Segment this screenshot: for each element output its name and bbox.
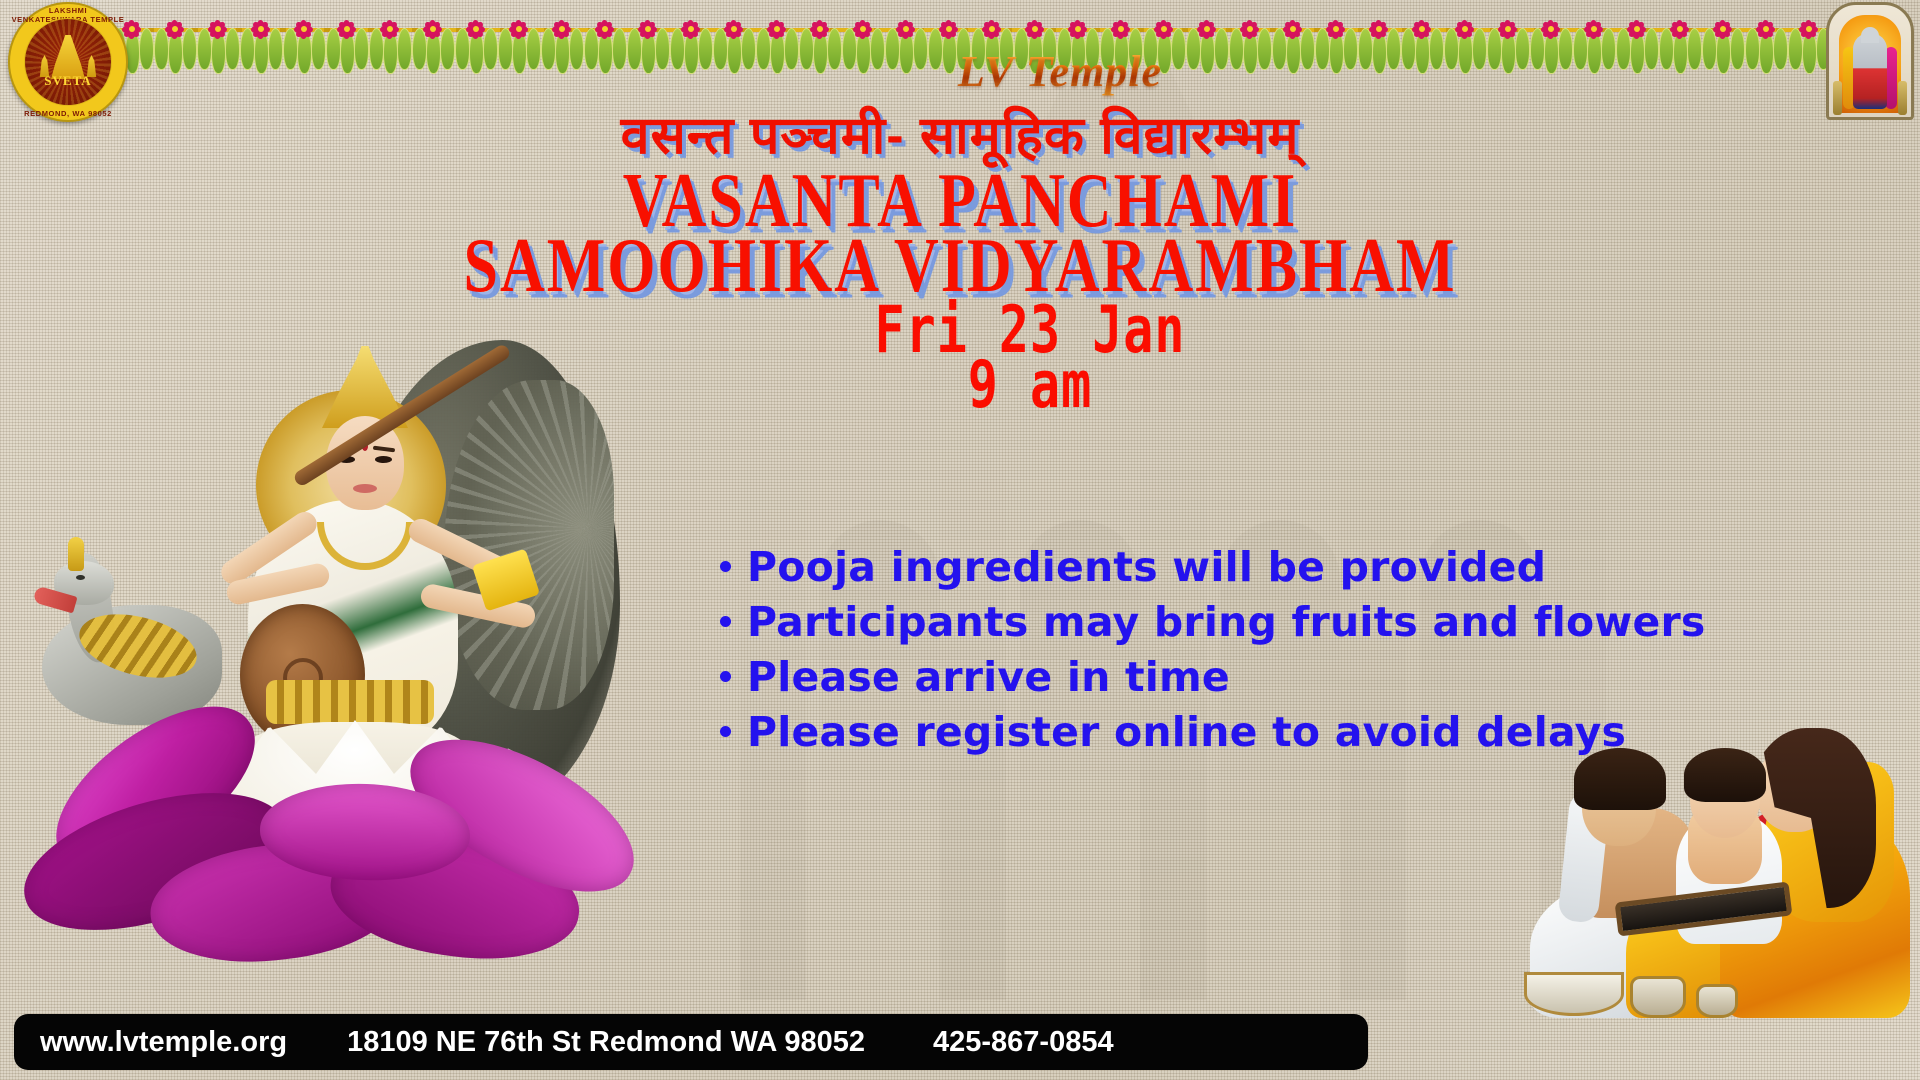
goddess-saraswati-illustration — [20, 330, 660, 990]
note-text: Please register online to avoid delays — [747, 705, 1626, 760]
garland-flower-icon — [293, 18, 315, 40]
bullet-dot-icon — [720, 671, 731, 682]
garland-flower-icon — [1368, 18, 1390, 40]
garland-flower-icon — [207, 18, 229, 40]
garland-flower-icon — [1755, 18, 1777, 40]
garland-flower-icon — [1669, 18, 1691, 40]
event-flyer: LAKSHMI VENKATESHWARA TEMPLE REDMOND, WA… — [0, 0, 1920, 1080]
rice-tray-icon — [1524, 972, 1624, 1016]
bullet-dot-icon — [720, 726, 731, 737]
garland-flower-icon — [1712, 18, 1734, 40]
garland-flower-icon — [1325, 18, 1347, 40]
pooja-pot-icon — [1630, 976, 1686, 1018]
list-item: Pooja ingredients will be provided — [720, 540, 1840, 595]
garland-flower-icon — [1067, 18, 1089, 40]
garland-flower-icon — [1540, 18, 1562, 40]
vidyarambham-family-illustration — [1520, 698, 1920, 1018]
garland-flower-icon — [1282, 18, 1304, 40]
note-text: Participants may bring fruits and flower… — [747, 595, 1706, 650]
contact-footer-bar: www.lvtemple.org 18109 NE 76th St Redmon… — [14, 1014, 1368, 1070]
pooja-pot-icon — [1696, 984, 1738, 1018]
footer-website[interactable]: www.lvtemple.org — [40, 1026, 287, 1059]
garland-flower-icon — [1411, 18, 1433, 40]
garland-flower-icon — [1626, 18, 1648, 40]
garland-flower-icon — [1024, 18, 1046, 40]
garland-flower-icon — [1798, 18, 1820, 40]
garland-flower-icon — [1583, 18, 1605, 40]
brand-wordmark: LV Temple — [0, 46, 1920, 97]
garland-flower-icon — [895, 18, 917, 40]
garland-flower-icon — [680, 18, 702, 40]
garland-flower-icon — [1110, 18, 1132, 40]
garland-flower-icon — [1196, 18, 1218, 40]
garland-flower-icon — [852, 18, 874, 40]
garland-flower-icon — [766, 18, 788, 40]
footer-phone[interactable]: 425-867-0854 — [933, 1026, 1114, 1059]
garland-flower-icon — [422, 18, 444, 40]
list-item: Please arrive in time — [720, 650, 1840, 705]
garland-flower-icon — [250, 18, 272, 40]
garland-flower-icon — [1454, 18, 1476, 40]
list-item: Participants may bring fruits and flower… — [720, 595, 1840, 650]
garland-flower-icon — [465, 18, 487, 40]
garland-flower-icon — [981, 18, 1003, 40]
bullet-dot-icon — [720, 616, 731, 627]
garland-flower-icon — [379, 18, 401, 40]
garland-flower-icon — [637, 18, 659, 40]
deity-crown — [1861, 27, 1879, 43]
garland-flower-icon — [164, 18, 186, 40]
garland-flower-icon — [551, 18, 573, 40]
garland-flower-icon — [938, 18, 960, 40]
garland-flower-icon — [1153, 18, 1175, 40]
garland-flower-icon — [1239, 18, 1261, 40]
garland-flower-icon — [809, 18, 831, 40]
garland-flower-icon — [723, 18, 745, 40]
note-text: Pooja ingredients will be provided — [747, 540, 1546, 595]
footer-address: 18109 NE 76th St Redmond WA 98052 — [347, 1026, 865, 1059]
bullet-dot-icon — [720, 561, 731, 572]
garland-flower-icon — [336, 18, 358, 40]
garland-flower-icon — [1497, 18, 1519, 40]
garland-flower-icon — [594, 18, 616, 40]
garland-flower-icon — [508, 18, 530, 40]
note-text: Please arrive in time — [747, 650, 1230, 705]
